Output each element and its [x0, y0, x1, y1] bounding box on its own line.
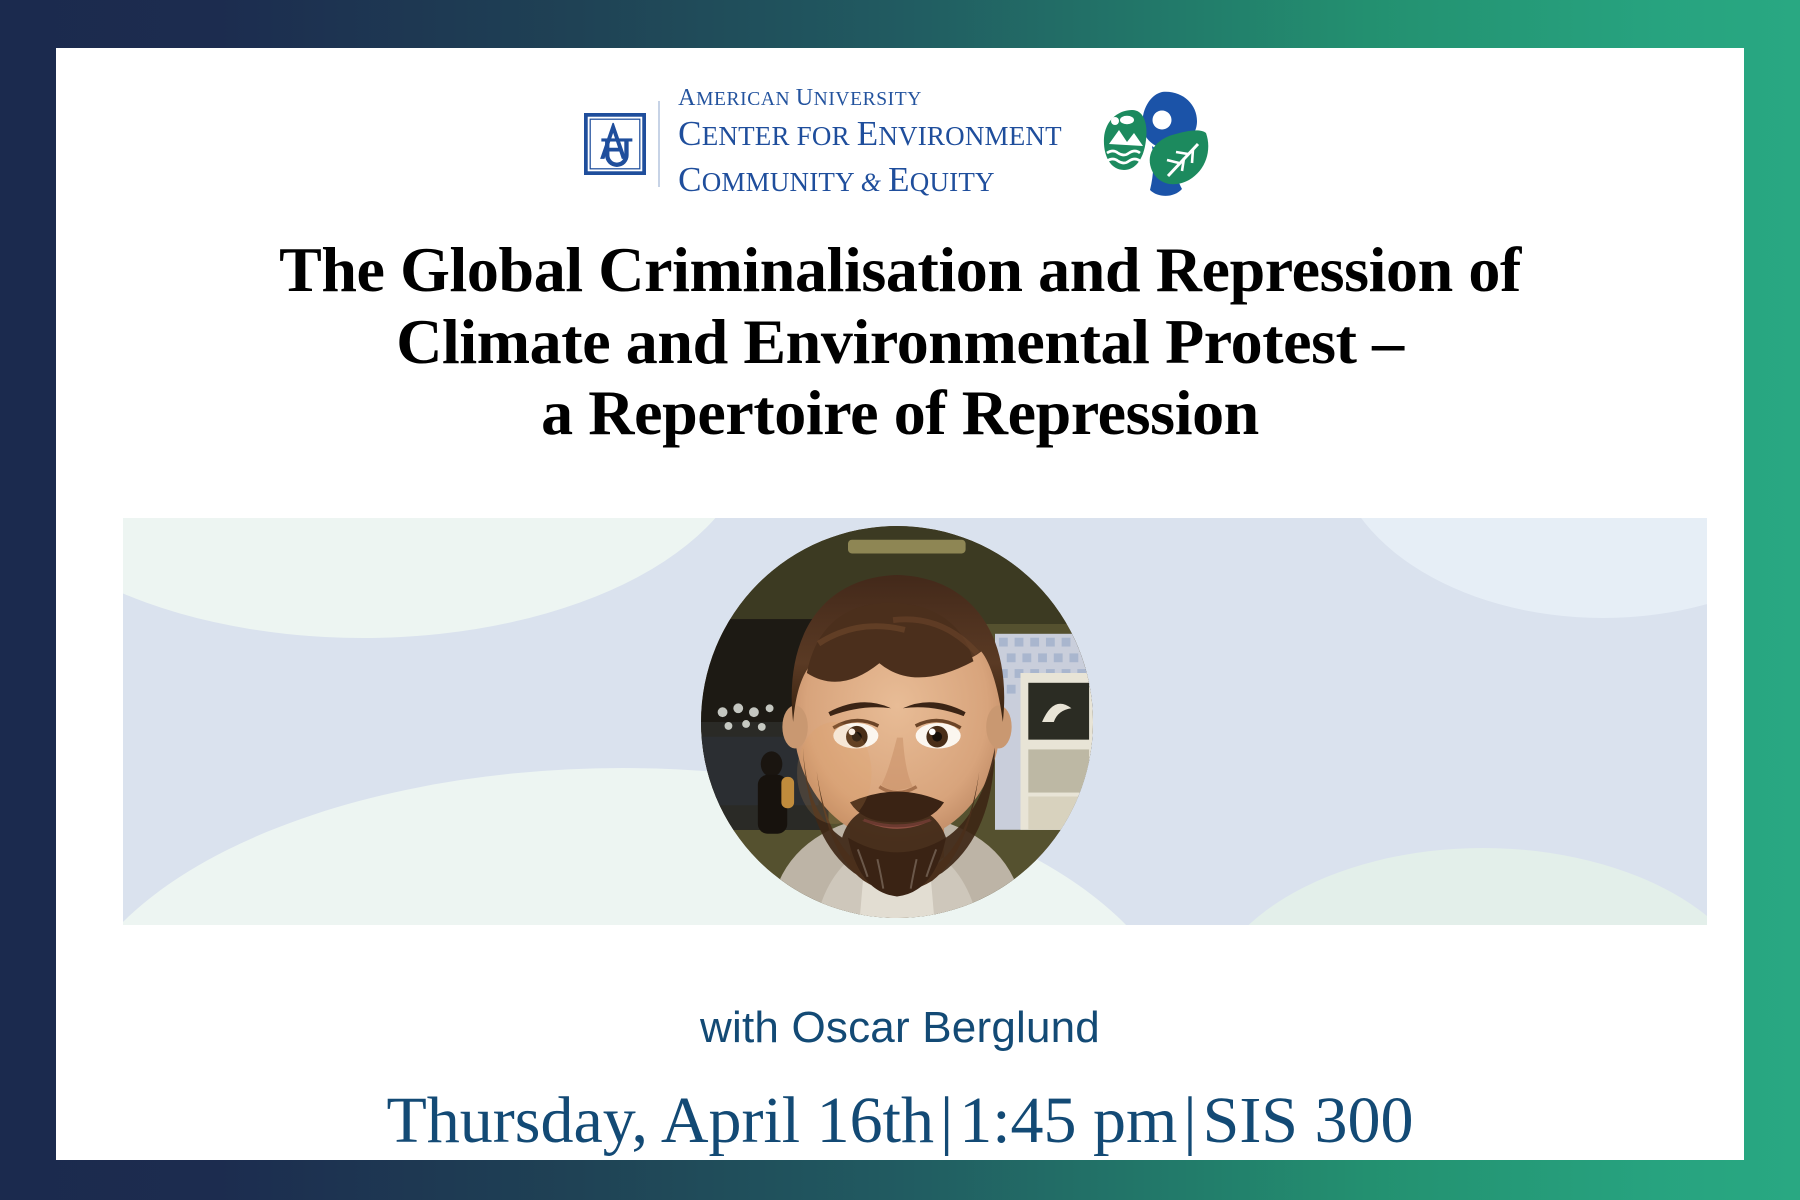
lockup-text: AMERICAN UNIVERSITY CENTER FOR ENVIRONME…: [678, 86, 1062, 202]
lockup-line-1: CENTER FOR ENVIRONMENT: [678, 111, 1062, 157]
event-separator-2: |: [1177, 1084, 1202, 1157]
lockup-line-2: COMMUNITY & EQUITY: [678, 157, 1062, 203]
cece-emblem-icon: [1096, 88, 1216, 200]
speaker-portrait: [701, 526, 1093, 918]
speaker-banner: [123, 518, 1707, 925]
event-separator-1: |: [934, 1084, 959, 1157]
event-poster: AMERICAN UNIVERSITY CENTER FOR ENVIRONME…: [0, 0, 1800, 1200]
decorative-blob-top-left: [123, 518, 753, 638]
decorative-blob-top-right: [1333, 518, 1707, 618]
event-day: Thursday, April 16th: [386, 1084, 934, 1157]
title-line-2: Climate and Environmental Protest –: [126, 306, 1674, 378]
page-title: The Global Criminalisation and Repressio…: [126, 234, 1674, 449]
poster-card: AMERICAN UNIVERSITY CENTER FOR ENVIRONME…: [56, 48, 1744, 1160]
au-shield-icon: [584, 113, 646, 175]
lockup-eyebrow: AMERICAN UNIVERSITY: [678, 86, 1062, 111]
event-details: Thursday, April 16th|1:45 pm|SIS 300: [56, 1083, 1744, 1159]
speaker-name: with Oscar Berglund: [56, 1003, 1744, 1053]
logo-lockup: AMERICAN UNIVERSITY CENTER FOR ENVIRONME…: [56, 74, 1744, 214]
decorative-blob-bottom-right: [1203, 848, 1707, 925]
title-line-3: a Repertoire of Repression: [126, 377, 1674, 449]
lockup-divider: [658, 101, 660, 187]
title-line-1: The Global Criminalisation and Repressio…: [126, 234, 1674, 306]
event-time: 1:45 pm: [959, 1084, 1177, 1157]
event-location: SIS 300: [1203, 1084, 1414, 1157]
